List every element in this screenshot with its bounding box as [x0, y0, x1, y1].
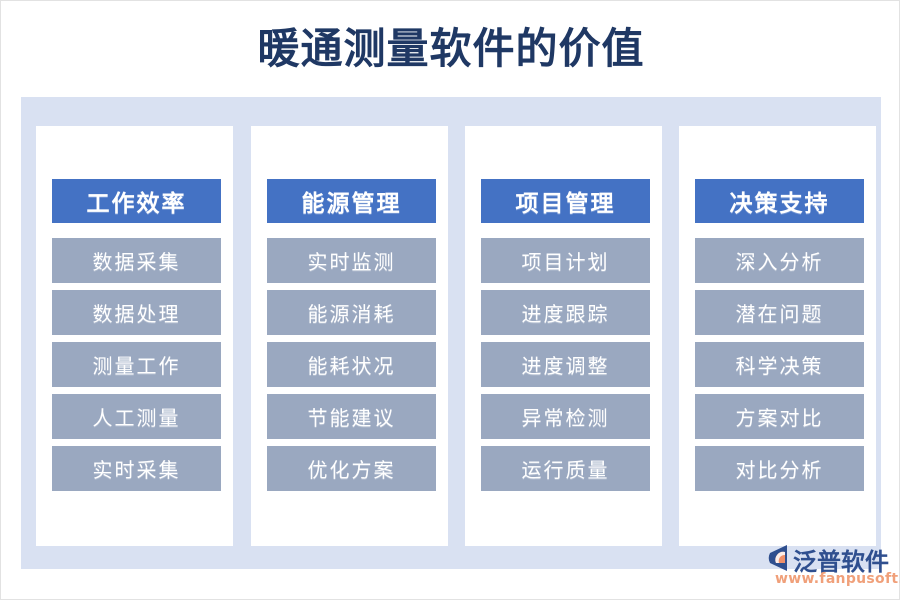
logo-url: www.fanpusoft.com	[775, 571, 900, 587]
brand-logo[interactable]: 泛普软件 www.fanpusoft.com	[763, 542, 895, 592]
column-item[interactable]: 异常检测	[481, 394, 650, 439]
column-item[interactable]: 项目计划	[481, 238, 650, 283]
infographic-frame: 暖通测量软件的价值 工作效率 数据采集 数据处理 测量工作 人工测量 实时采集 …	[0, 0, 900, 600]
column-card-4: 决策支持 深入分析 潜在问题 科学决策 方案对比 对比分析	[679, 126, 876, 546]
column-item[interactable]: 能耗状况	[267, 342, 436, 387]
diagram-panel: 工作效率 数据采集 数据处理 测量工作 人工测量 实时采集 能源管理 实时监测 …	[21, 97, 881, 569]
column-card-2: 能源管理 实时监测 能源消耗 能耗状况 节能建议 优化方案	[251, 126, 448, 546]
column-item[interactable]: 进度调整	[481, 342, 650, 387]
column-item[interactable]: 科学决策	[695, 342, 864, 387]
column-item[interactable]: 深入分析	[695, 238, 864, 283]
column-header-3[interactable]: 项目管理	[481, 179, 650, 223]
column-item[interactable]: 方案对比	[695, 394, 864, 439]
column-item[interactable]: 人工测量	[52, 394, 221, 439]
column-items-4: 深入分析 潜在问题 科学决策 方案对比 对比分析	[695, 238, 864, 498]
column-card-3: 项目管理 项目计划 进度跟踪 进度调整 异常检测 运行质量	[465, 126, 662, 546]
column-items-3: 项目计划 进度跟踪 进度调整 异常检测 运行质量	[481, 238, 650, 498]
column-item[interactable]: 潜在问题	[695, 290, 864, 335]
column-item[interactable]: 实时监测	[267, 238, 436, 283]
fanpu-logo-icon	[763, 544, 793, 572]
column-item[interactable]: 实时采集	[52, 446, 221, 491]
column-header-4[interactable]: 决策支持	[695, 179, 864, 223]
column-item[interactable]: 优化方案	[267, 446, 436, 491]
page-title: 暖通测量软件的价值	[1, 23, 900, 75]
column-item[interactable]: 运行质量	[481, 446, 650, 491]
column-item[interactable]: 测量工作	[52, 342, 221, 387]
column-item[interactable]: 进度跟踪	[481, 290, 650, 335]
column-header-1[interactable]: 工作效率	[52, 179, 221, 223]
column-item[interactable]: 节能建议	[267, 394, 436, 439]
column-items-2: 实时监测 能源消耗 能耗状况 节能建议 优化方案	[267, 238, 436, 498]
column-item[interactable]: 能源消耗	[267, 290, 436, 335]
column-header-2[interactable]: 能源管理	[267, 179, 436, 223]
column-item[interactable]: 对比分析	[695, 446, 864, 491]
column-item[interactable]: 数据处理	[52, 290, 221, 335]
column-item[interactable]: 数据采集	[52, 238, 221, 283]
column-items-1: 数据采集 数据处理 测量工作 人工测量 实时采集	[52, 238, 221, 498]
column-card-1: 工作效率 数据采集 数据处理 测量工作 人工测量 实时采集	[36, 126, 233, 546]
